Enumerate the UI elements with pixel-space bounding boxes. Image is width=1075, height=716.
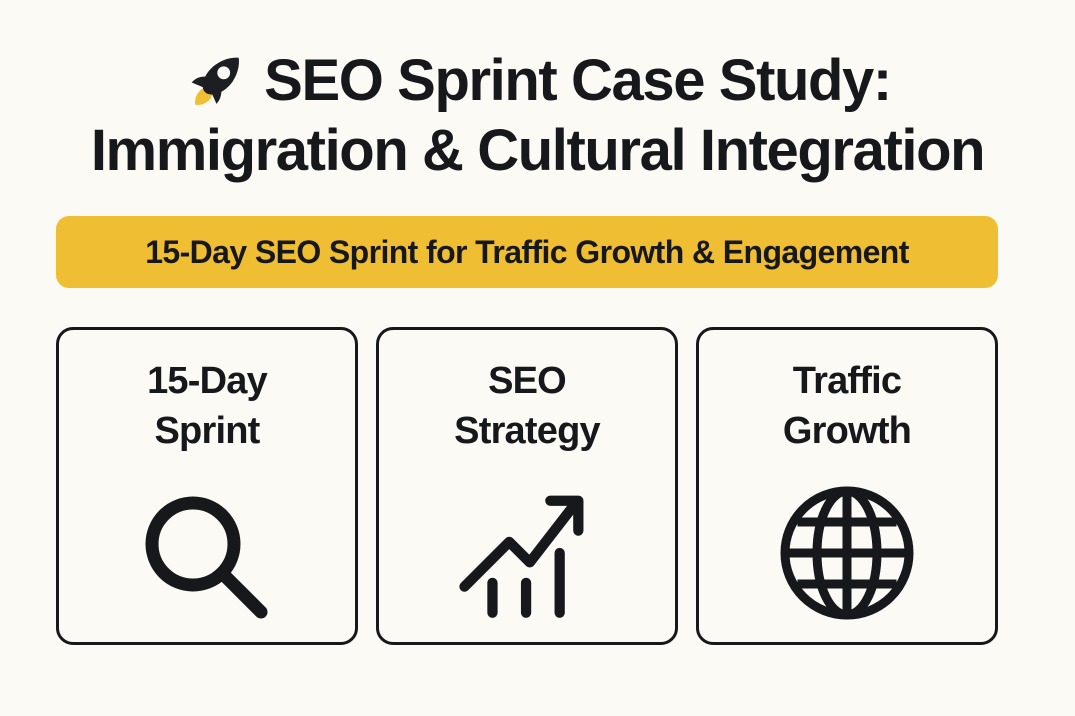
subtitle-banner-text: 15-Day SEO Sprint for Traffic Growth & E… xyxy=(145,234,909,270)
globe-icon xyxy=(777,478,917,628)
page-title: SEO Sprint Case Study: Immigration & Cul… xyxy=(0,46,1075,186)
feature-card-strategy-title: SEO Strategy xyxy=(454,356,600,456)
feature-cards: 15-Day Sprint SEO Strategy xyxy=(56,327,998,645)
title-line-1: SEO Sprint Case Study: xyxy=(0,46,1075,116)
title-text-line-1: SEO Sprint Case Study: xyxy=(264,46,891,116)
feature-card-traffic[interactable]: Traffic Growth xyxy=(696,327,998,645)
subtitle-banner: 15-Day SEO Sprint for Traffic Growth & E… xyxy=(56,216,998,288)
feature-card-sprint-title: 15-Day Sprint xyxy=(147,356,267,456)
feature-card-traffic-title: Traffic Growth xyxy=(783,356,911,456)
infographic-page: SEO Sprint Case Study: Immigration & Cul… xyxy=(0,0,1075,716)
feature-card-strategy[interactable]: SEO Strategy xyxy=(376,327,678,645)
magnifier-icon xyxy=(137,478,277,628)
rocket-icon xyxy=(184,52,246,114)
growth-chart-icon xyxy=(457,478,597,628)
feature-card-sprint[interactable]: 15-Day Sprint xyxy=(56,327,358,645)
title-text-line-2: Immigration & Cultural Integration xyxy=(0,116,1075,186)
